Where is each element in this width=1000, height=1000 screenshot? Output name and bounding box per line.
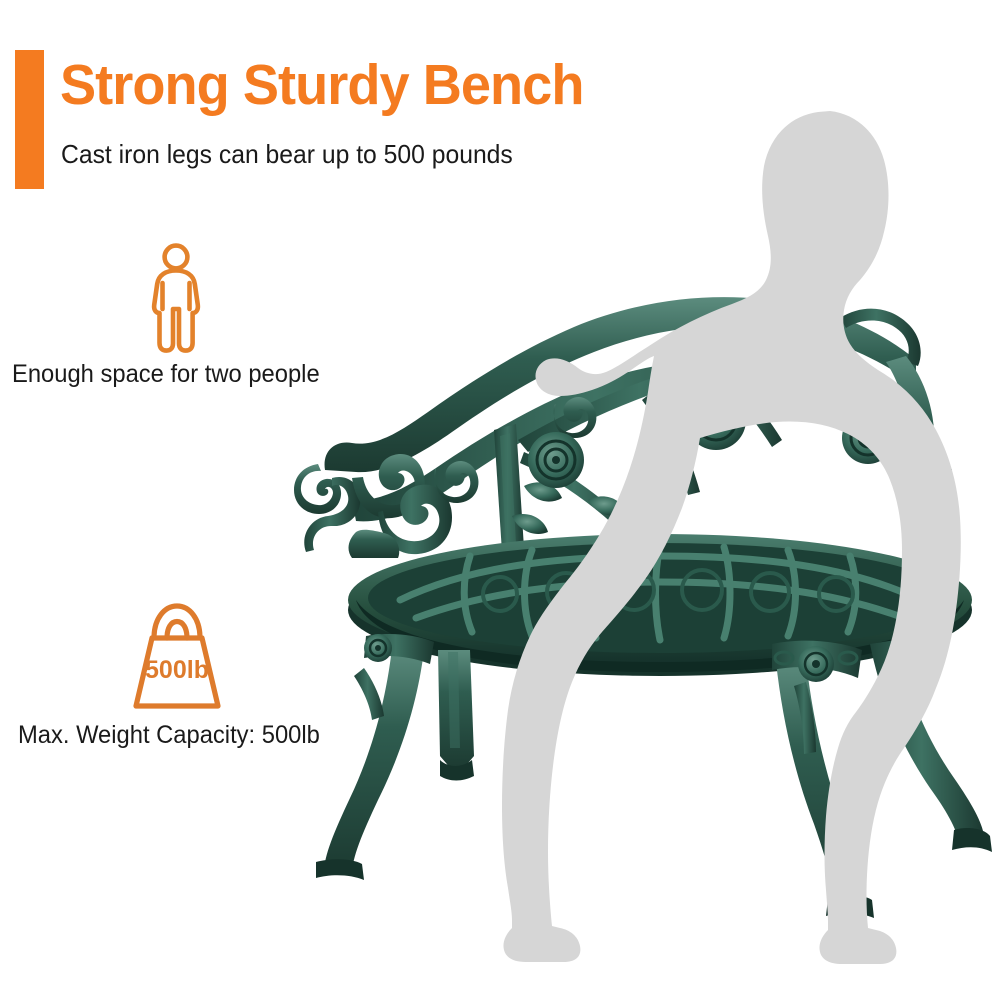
foot-rear-right <box>952 828 992 852</box>
feature-caption-weight: Max. Weight Capacity: 500lb <box>18 721 320 750</box>
person-standing-icon <box>148 243 204 355</box>
leg-bracket-right-rose <box>798 646 834 682</box>
weight-bag-icon: 500lb <box>128 600 226 712</box>
person-standing-glyph <box>148 243 204 355</box>
feature-caption-space: Enough space for two people <box>12 360 320 389</box>
rose-ornament-left <box>528 432 584 488</box>
leg-front-left <box>324 648 424 874</box>
weight-bag-glyph: 500lb <box>128 600 226 712</box>
foot-front-left <box>316 859 364 880</box>
infographic-canvas: Strong Sturdy Bench Cast iron legs can b… <box>0 0 1000 1000</box>
leg-center-highlight <box>448 652 460 748</box>
leg-bracket-left-stem <box>354 668 384 720</box>
leg-bracket-left-rose <box>364 634 392 662</box>
armrest-scroll-outer <box>294 464 341 514</box>
page-title: Strong Sturdy Bench <box>60 56 583 116</box>
weight-icon-label: 500lb <box>145 656 209 684</box>
accent-bar <box>15 50 44 189</box>
page-subtitle: Cast iron legs can bear up to 500 pounds <box>61 139 513 170</box>
